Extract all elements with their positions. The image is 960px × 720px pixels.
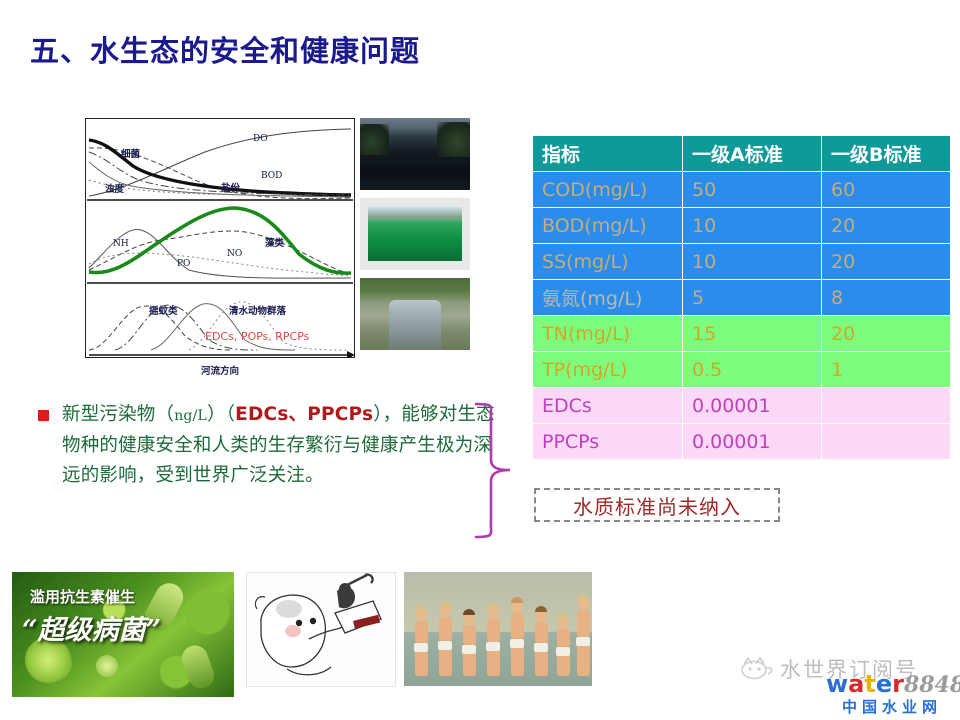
bottom-image-strip: 滥用抗生素催生 “超级病菌” [12,572,592,697]
cell-grade-a: 0.5 [683,352,822,388]
page-title: 五、水生态的安全和健康问题 [30,28,420,70]
cell-grade-a: 5 [683,280,822,316]
cell-grade-a: 0.00001 [683,388,822,424]
cell-indicator: TP(mg/L) [533,352,683,388]
cell-grade-b: 1 [822,352,951,388]
logo-letter-r: r [892,670,904,698]
figure-label-nh: NH [113,239,129,249]
watermark: 水世界订阅号 water8848.com 中国水业网 [738,652,952,712]
cell-indicator: 氨氮(mg/L) [533,280,683,316]
photo-column [360,118,470,358]
logo-letter-e: e [876,670,892,698]
photo-green-algae-river [360,198,470,270]
image-cartoon-medicine [246,572,396,687]
cell-grade-b: 8 [822,280,951,316]
table-row: BOD(mg/L) 10 20 [533,208,951,244]
watermark-subtitle: 中国水业网 [842,696,942,717]
cell-grade-b: 60 [822,172,951,208]
cell-grade-b [822,388,951,424]
figure-label-bacteria: 细菌 [121,148,141,160]
figure-label-po: PO [177,259,190,269]
cell-grade-a: 50 [683,172,822,208]
figure-label-do: DO [253,134,268,144]
photo-dark-polluted-river [360,118,470,190]
cell-grade-b: 20 [822,208,951,244]
th-grade-b: 一级B标准 [822,136,951,172]
body-line1-post: ）， [373,404,401,425]
body-line1-pre: 新型污染物（ [62,404,174,425]
cartoon-drawing [247,573,395,686]
cell-indicator: EDCs [533,388,683,424]
standards-note-text: 水质标准尚未纳入 [573,491,741,520]
water-standards-table: 指标 一级A标准 一级B标准 COD(mg/L) 50 60 BOD(mg/L)… [532,135,951,460]
table-row: 氨氮(mg/L) 5 8 [533,280,951,316]
table-row: EDCs 0.00001 [533,388,951,424]
table-row: PPCPs 0.00001 [533,424,951,460]
body-paragraph: 新型污染物（ng/L）（EDCs、PPCPs），能够对生态物种的健康安全和人类的… [62,400,508,491]
figure-axis-caption: 河流方向 [85,363,355,377]
table-row: TP(mg/L) 0.5 1 [533,352,951,388]
cell-grade-a: 10 [683,208,822,244]
body-highlight: EDCs、PPCPs [235,404,373,425]
body-unit: ng/L [174,408,207,424]
table-row: TN(mg/L) 15 20 [533,316,951,352]
figure-label-no: NO [227,249,242,259]
cell-grade-b: 20 [822,316,951,352]
cell-indicator: PPCPs [533,424,683,460]
th-indicator: 指标 [533,136,683,172]
table-header-row: 指标 一级A标准 一级B标准 [533,136,951,172]
cell-indicator: SS(mg/L) [533,244,683,280]
photo-clear-river [360,278,470,350]
figure-label-emerging: EDCs, POPs, RPCPs [205,330,310,343]
logo-number: 8848 [904,672,960,698]
figure-label-bod: BOD [261,171,282,181]
figure-label-algae: 藻类 [265,237,285,249]
river-succession-figure: DO BOD 细菌 盐份 浊度 NH PO NO 藻类 摇蚊类 清水动物群落 E… [85,118,355,358]
table-row: SS(mg/L) 10 20 [533,244,951,280]
photo-inner [368,207,463,262]
standards-note-box: 水质标准尚未纳入 [534,488,780,522]
logo-letter-a: a [848,670,864,698]
cell-grade-a: 10 [683,244,822,280]
cell-indicator: COD(mg/L) [533,172,683,208]
figure-label-chironomid: 摇蚊类 [149,305,178,317]
cell-indicator: BOD(mg/L) [533,208,683,244]
logo-letter-w: w [826,670,848,698]
bullet-square-icon [38,410,49,421]
superbug-caption-1: 滥用抗生素催生 [30,586,135,607]
cell-grade-a: 0.00001 [683,424,822,460]
table-row: COD(mg/L) 50 60 [533,172,951,208]
brace-icon [470,398,520,544]
image-children [404,572,592,686]
figure-label-salinity: 盐份 [221,182,241,194]
cat-logo-icon [740,656,776,680]
figure-label-turbidity: 浊度 [105,183,125,195]
image-superbug: 滥用抗生素催生 “超级病菌” [12,572,234,697]
logo-letter-t: t [864,670,875,698]
figure-curves: DO BOD 细菌 盐份 浊度 NH PO NO 藻类 摇蚊类 清水动物群落 E… [85,118,355,358]
cell-grade-b: 20 [822,244,951,280]
body-block: 新型污染物（ng/L）（EDCs、PPCPs），能够对生态物种的健康安全和人类的… [38,400,508,491]
cell-grade-b [822,424,951,460]
body-line1-mid: ）（ [207,404,235,425]
superbug-caption-2: “超级病菌” [22,608,161,647]
slide-root: 五、水生态的安全和健康问题 DO BOD 细菌 盐份 浊度 NH PO [0,0,960,720]
watermark-logo: water8848.com [826,672,960,696]
cell-indicator: TN(mg/L) [533,316,683,352]
figure-label-clean-fauna: 清水动物群落 [229,305,287,317]
th-grade-a: 一级A标准 [683,136,822,172]
cell-grade-a: 15 [683,316,822,352]
